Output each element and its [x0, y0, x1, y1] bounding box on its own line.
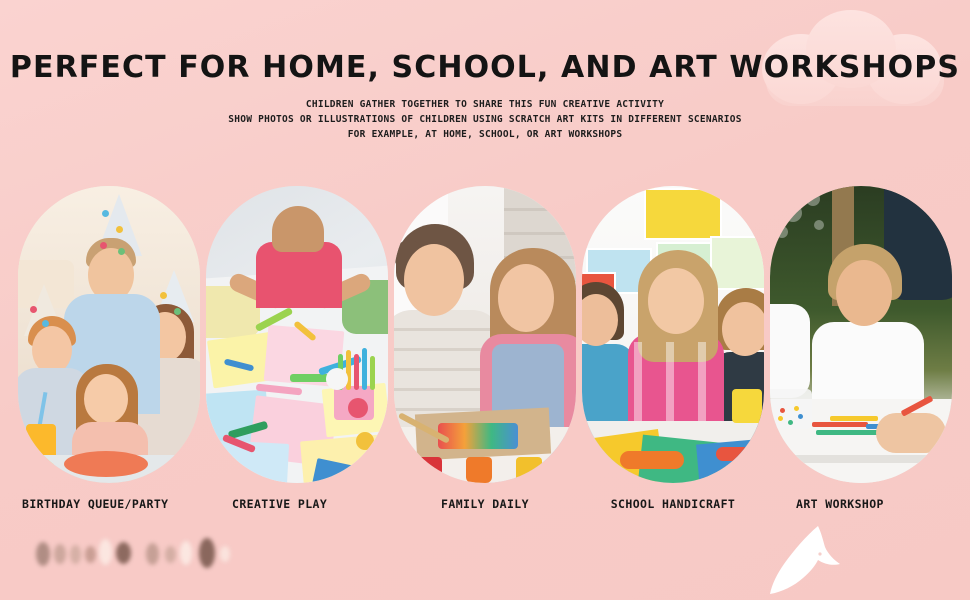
- scenario-card: CREATIVE PLAY: [206, 186, 388, 486]
- subtitle-line-2: SHOW PHOTOS OR ILLUSTRATIONS OF CHILDREN…: [0, 112, 970, 127]
- scenario-photo-birthday-queue-party: [18, 186, 200, 483]
- scenario-caption: BIRTHDAY QUEUE/PARTY: [18, 483, 200, 511]
- subtitle: CHILDREN GATHER TOGETHER TO SHARE THIS F…: [0, 85, 970, 142]
- scenario-photo-art-workshop: [770, 186, 952, 483]
- scenario-card: FAMILY DAILY: [394, 186, 576, 486]
- subtitle-line-3: FOR EXAMPLE, AT HOME, SCHOOL, OR ART WOR…: [0, 127, 970, 142]
- scenario-caption: CREATIVE PLAY: [206, 483, 388, 511]
- scenario-caption: ART WORKSHOP: [770, 483, 952, 511]
- blurred-dot-row: [36, 532, 236, 576]
- dove-icon: [760, 520, 852, 598]
- scenario-card: BIRTHDAY QUEUE/PARTY: [18, 186, 200, 486]
- scenario-photo-creative-play: [206, 186, 388, 483]
- scenario-caption: FAMILY DAILY: [394, 483, 576, 511]
- scenario-photo-family-daily: [394, 186, 576, 483]
- scenario-caption: SCHOOL HANDICRAFT: [582, 483, 764, 511]
- scenario-card-row: BIRTHDAY QUEUE/PARTY: [0, 186, 970, 486]
- scenario-photo-school-handicraft: [582, 186, 764, 483]
- promo-banner: PERFECT FOR HOME, SCHOOL, AND ART WORKSH…: [0, 0, 970, 600]
- heading-block: PERFECT FOR HOME, SCHOOL, AND ART WORKSH…: [0, 50, 970, 142]
- page-title: PERFECT FOR HOME, SCHOOL, AND ART WORKSH…: [0, 50, 970, 85]
- scenario-card: SCHOOL HANDICRAFT: [582, 186, 764, 486]
- scenario-card: ART WORKSHOP: [770, 186, 952, 486]
- subtitle-line-1: CHILDREN GATHER TOGETHER TO SHARE THIS F…: [0, 97, 970, 112]
